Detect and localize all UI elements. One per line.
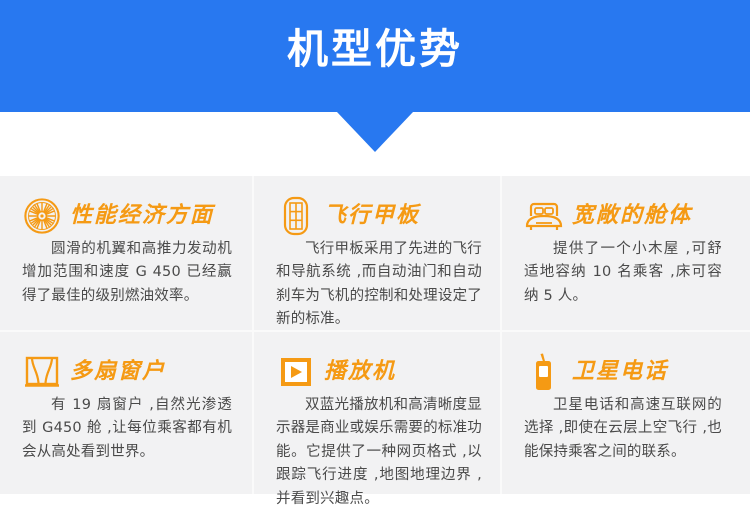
bed-icon	[524, 196, 564, 236]
feature-body: 飞行甲板采用了先进的飞行和导航系统 ,而自动油门和自动刹车为飞机的控制和处理设定…	[276, 238, 484, 332]
aircraft-advantages-page: 机型优势	[0, 0, 750, 532]
turbine-fan-icon	[22, 196, 62, 236]
window-curtains-icon	[22, 352, 62, 392]
feature-title: 多扇窗户	[70, 361, 166, 383]
flight-deck-panel-icon	[276, 196, 316, 236]
feature-title: 性能经济方面	[70, 205, 214, 227]
feature-header: 性能经济方面	[22, 196, 236, 236]
triangle-down-icon	[337, 112, 413, 152]
header-banner: 机型优势	[0, 0, 750, 112]
features-grid: 性能经济方面 圆滑的机翼和高推力发动机增加范围和速度 G 450 已经赢得了最佳…	[0, 176, 750, 494]
feature-title: 播放机	[324, 361, 396, 383]
features-panel: 性能经济方面 圆滑的机翼和高推力发动机增加范围和速度 G 450 已经赢得了最佳…	[0, 176, 750, 494]
feature-title: 卫星电话	[572, 361, 668, 383]
feature-body: 圆滑的机翼和高推力发动机增加范围和速度 G 450 已经赢得了最佳的级别燃油效率…	[22, 238, 236, 308]
feature-card-cabin: 宽敞的舱体 提供了一个小木屋 ,可舒适地容纳 10 名乘客 ,床可容纳 5 人。	[500, 176, 750, 330]
play-button-icon	[276, 352, 316, 392]
feature-body: 双蓝光播放机和高清晰度显示器是商业或娱乐需要的标准功能。它提供了一种网页格式 ,…	[276, 394, 484, 511]
feature-header: 飞行甲板	[276, 196, 484, 236]
feature-card-satphone: 卫星电话 卫星电话和高速互联网的选择 ,即使在云层上空飞行 ,也能保持乘客之间的…	[500, 330, 750, 494]
feature-body: 有 19 扇窗户 ,自然光渗透到 G450 舱 ,让每位乘客都有机会从高处看到世…	[22, 394, 236, 464]
feature-title: 宽敞的舱体	[572, 205, 692, 227]
feature-card-player: 播放机 双蓝光播放机和高清晰度显示器是商业或娱乐需要的标准功能。它提供了一种网页…	[252, 330, 500, 494]
feature-card-performance: 性能经济方面 圆滑的机翼和高推力发动机增加范围和速度 G 450 已经赢得了最佳…	[0, 176, 252, 330]
page-title: 机型优势	[0, 0, 750, 112]
feature-header: 宽敞的舱体	[524, 196, 734, 236]
feature-card-windows: 多扇窗户 有 19 扇窗户 ,自然光渗透到 G450 舱 ,让每位乘客都有机会从…	[0, 330, 252, 494]
feature-title: 飞行甲板	[324, 205, 420, 227]
feature-card-flight-deck: 飞行甲板 飞行甲板采用了先进的飞行和导航系统 ,而自动油门和自动刹车为飞机的控制…	[252, 176, 500, 330]
feature-header: 多扇窗户	[22, 352, 236, 392]
feature-body: 提供了一个小木屋 ,可舒适地容纳 10 名乘客 ,床可容纳 5 人。	[524, 238, 734, 308]
feature-body: 卫星电话和高速互联网的选择 ,即使在云层上空飞行 ,也能保持乘客之间的联系。	[524, 394, 734, 464]
feature-header: 卫星电话	[524, 352, 734, 392]
satellite-phone-icon	[524, 352, 564, 392]
feature-header: 播放机	[276, 352, 484, 392]
